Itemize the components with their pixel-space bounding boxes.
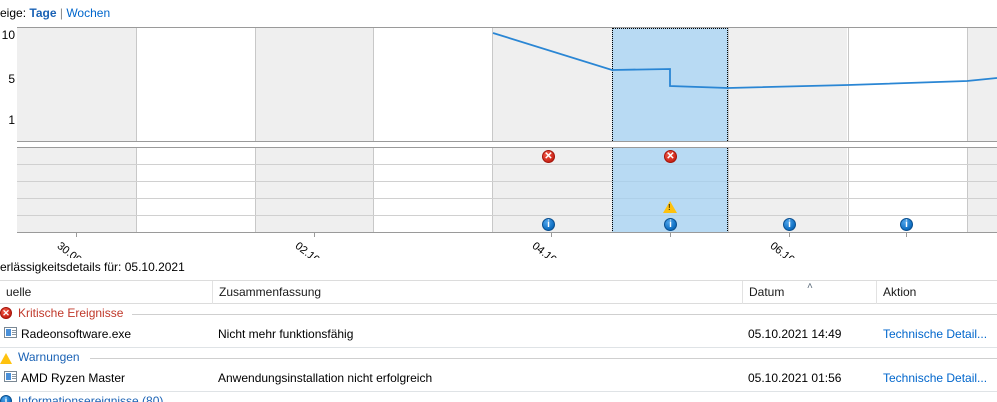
event-row-4 (17, 199, 997, 216)
group-row-warnings[interactable]: Warnungen (0, 349, 997, 366)
x-tick-0 (76, 232, 77, 237)
column-header-source[interactable]: uelle (0, 281, 212, 304)
column-header-date[interactable]: Datum ˄ (742, 281, 876, 304)
information-event-icon[interactable]: i (542, 218, 555, 231)
critical-event-icon[interactable]: ✕ (664, 150, 677, 163)
information-event-icon[interactable]: i (783, 218, 796, 231)
row-separator (0, 347, 997, 348)
warning-icon (0, 353, 12, 364)
y-tick-1: 1 (8, 114, 15, 126)
y-tick-10: 10 (2, 29, 15, 41)
view-days-link[interactable]: Tage (29, 6, 56, 20)
stability-chart: 10 5 1 (0, 27, 997, 255)
cell-summary: Anwendungsinstallation nicht erfolgreich (218, 371, 432, 385)
x-tick-1 (314, 232, 315, 237)
table-row[interactable]: AMD Ryzen Master Anwendungsinstallation … (0, 366, 997, 392)
view-separator: | (60, 6, 63, 20)
reliability-monitor-view: eige: Tage | Wochen 10 5 1 (0, 0, 997, 402)
column-header-action[interactable]: Aktion (876, 281, 997, 304)
details-grid-header: uelle Zusammenfassung Datum ˄ Aktion (0, 280, 997, 304)
x-tick-3 (789, 232, 790, 237)
critical-icon: ✕ (0, 307, 12, 319)
technical-details-link[interactable]: Technische Detail... (883, 371, 987, 385)
group-label-warnings: Warnungen (18, 350, 80, 364)
critical-event-icon[interactable]: ✕ (542, 150, 555, 163)
x-axis: 30.09.2021 02.10.2021 04.10.2021 06.10.2… (17, 232, 997, 233)
group-rule (90, 358, 997, 359)
y-axis-labels: 10 5 1 (0, 27, 17, 142)
information-icon: i (0, 395, 12, 402)
y-tick-5: 5 (8, 73, 15, 85)
view-switcher: eige: Tage | Wochen (0, 6, 110, 22)
group-row-information[interactable]: i Informationsereignisse (80) (0, 393, 997, 402)
x-tick-2 (551, 232, 552, 237)
reliability-details-panel: erlässigkeitsdetails für: 05.10.2021 uel… (0, 258, 997, 402)
group-label-information: Informationsereignisse (80) (18, 394, 163, 402)
x-tick-sel (670, 232, 671, 237)
information-event-icon[interactable]: i (900, 218, 913, 231)
column-header-summary[interactable]: Zusammenfassung (212, 281, 742, 304)
group-row-critical[interactable]: ✕ Kritische Ereignisse (0, 305, 997, 322)
row-separator (0, 391, 997, 392)
event-icon-rows: ✕ ✕ i i i i (17, 147, 997, 232)
event-row-5 (17, 216, 997, 232)
cell-date: 05.10.2021 01:56 (748, 371, 841, 385)
column-header-date-label: Datum (749, 285, 784, 299)
stability-line (17, 28, 997, 142)
event-row-1 (17, 148, 997, 165)
view-switcher-label: eige: (0, 6, 26, 20)
group-label-critical: Kritische Ereignisse (18, 306, 123, 320)
application-icon (4, 327, 17, 338)
event-row-3 (17, 182, 997, 199)
chart-plot-area[interactable] (17, 27, 997, 142)
information-event-icon[interactable]: i (664, 218, 677, 231)
details-title: erlässigkeitsdetails für: 05.10.2021 (0, 260, 185, 274)
cell-source: AMD Ryzen Master (21, 371, 125, 385)
group-rule (132, 314, 997, 315)
application-icon (4, 371, 17, 382)
sort-ascending-icon: ˄ (807, 282, 813, 292)
technical-details-link[interactable]: Technische Detail... (883, 327, 987, 341)
x-tick-4 (906, 232, 907, 237)
table-row[interactable]: Radeonsoftware.exe Nicht mehr funktionsf… (0, 322, 997, 348)
event-row-2 (17, 165, 997, 182)
cell-source: Radeonsoftware.exe (21, 327, 131, 341)
cell-date: 05.10.2021 14:49 (748, 327, 841, 341)
cell-summary: Nicht mehr funktionsfähig (218, 327, 353, 341)
details-grid-body: ✕ Kritische Ereignisse Radeonsoftware.ex… (0, 305, 997, 402)
warning-event-icon[interactable] (663, 201, 677, 213)
view-weeks-link[interactable]: Wochen (66, 6, 110, 20)
